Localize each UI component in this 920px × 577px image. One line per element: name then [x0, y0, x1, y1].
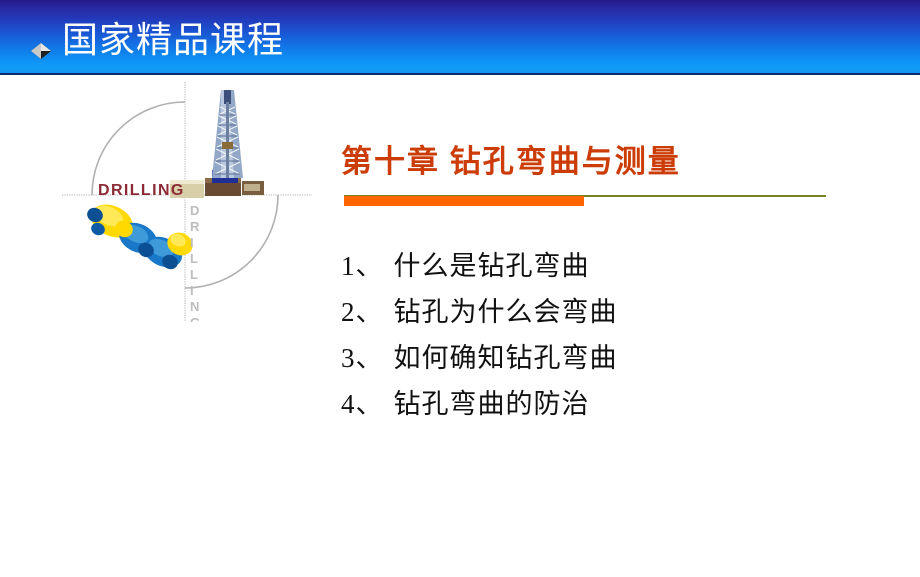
logo-label-vertical: D R I L L I N G — [190, 203, 200, 322]
svg-text:R: R — [190, 219, 200, 234]
list-item: 1、什么是钻孔弯曲 — [341, 243, 761, 289]
list-item-label: 钻孔为什么会弯曲 — [394, 289, 618, 335]
drill-bits-illustration — [85, 198, 197, 273]
drilling-logo: DRILLING D R I L L I N G — [62, 82, 312, 322]
svg-text:N: N — [190, 299, 199, 314]
page-title: 第十章 钻孔弯曲与测量 — [341, 141, 681, 183]
list-item-number: 3、 — [341, 335, 384, 381]
list-item-number: 2、 — [341, 289, 384, 335]
list-item-label: 如何确知钻孔弯曲 — [394, 335, 618, 381]
diamond-icon — [31, 43, 51, 59]
header-banner: 国家精品课程 — [0, 0, 920, 75]
svg-text:G: G — [190, 315, 200, 322]
svg-text:L: L — [190, 251, 198, 266]
svg-text:L: L — [190, 267, 198, 282]
list-item-number: 4、 — [341, 381, 384, 427]
list-item-label: 钻孔弯曲的防治 — [394, 381, 590, 427]
svg-text:D: D — [190, 203, 199, 218]
title-divider-orange-bar — [344, 196, 584, 206]
topic-list: 1、什么是钻孔弯曲 2、钻孔为什么会弯曲 3、如何确知钻孔弯曲 4、钻孔弯曲的防… — [341, 243, 761, 427]
list-item: 2、钻孔为什么会弯曲 — [341, 289, 761, 335]
list-item: 4、钻孔弯曲的防治 — [341, 381, 761, 427]
slide-canvas: 国家精品课程 — [0, 0, 920, 577]
title-divider — [344, 192, 826, 206]
header-title: 国家精品课程 — [62, 18, 284, 62]
logo-label-horizontal: DRILLING — [98, 182, 185, 199]
list-item-number: 1、 — [341, 243, 384, 289]
list-item-label: 什么是钻孔弯曲 — [394, 243, 590, 289]
list-item: 3、如何确知钻孔弯曲 — [341, 335, 761, 381]
svg-text:I: I — [190, 235, 194, 250]
svg-text:I: I — [190, 283, 194, 298]
